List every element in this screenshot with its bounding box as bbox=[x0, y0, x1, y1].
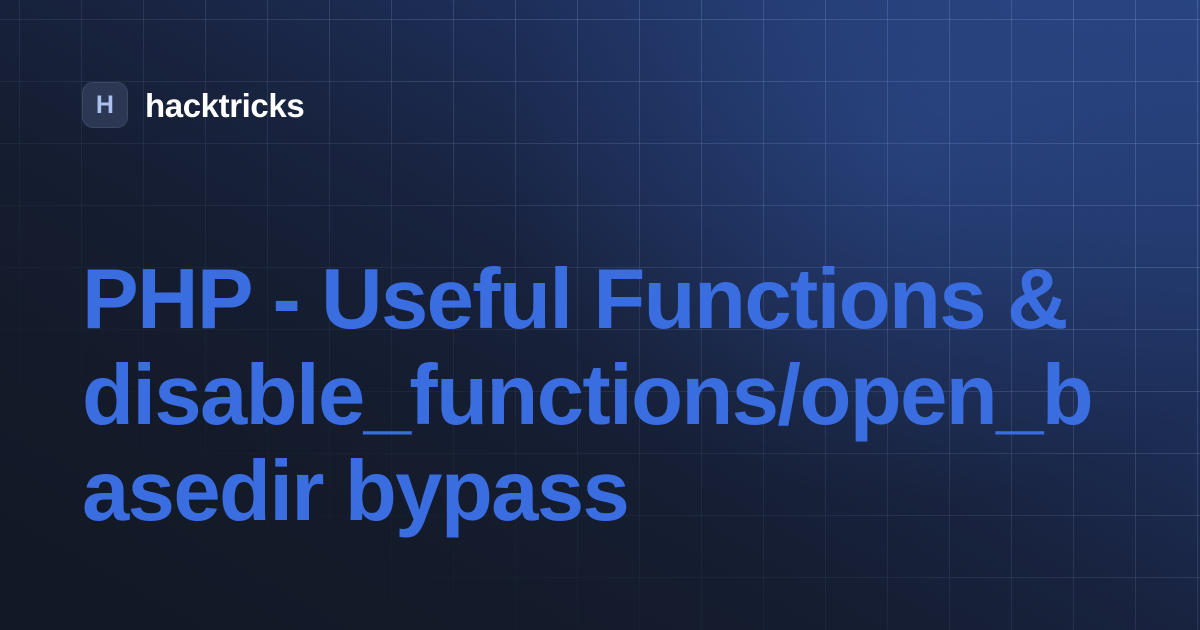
page-title: PHP - Useful Functions & disable_functio… bbox=[82, 252, 1132, 540]
hacktricks-logo-icon: H bbox=[82, 82, 128, 128]
brand-lockup[interactable]: H hacktricks bbox=[82, 82, 304, 128]
brand-badge-letter: H bbox=[96, 93, 114, 118]
brand-name: hacktricks bbox=[145, 89, 304, 122]
og-card: H hacktricks PHP - Useful Functions & di… bbox=[0, 0, 1200, 630]
